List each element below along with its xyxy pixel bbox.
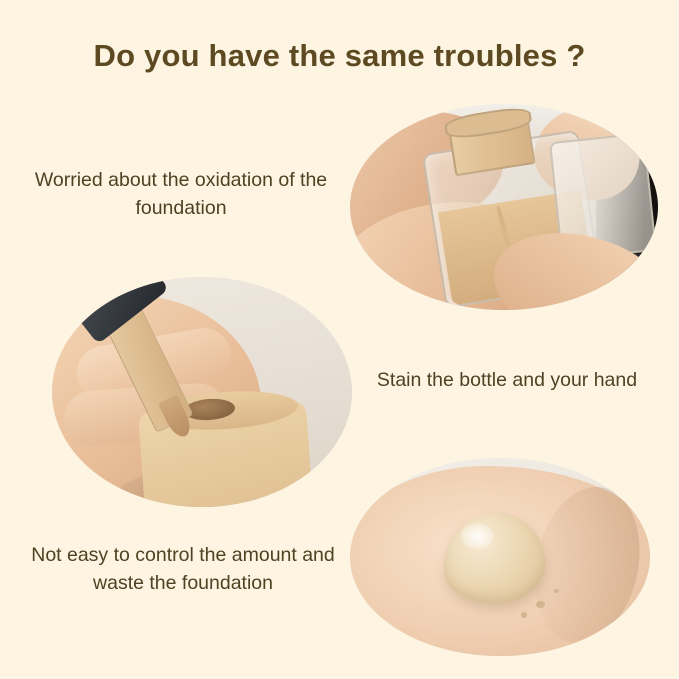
skin-swatch-photo-content: [350, 458, 650, 656]
page-title: Do you have the same troubles ?: [0, 38, 679, 74]
caption-control: Not easy to control the amount and waste…: [28, 542, 338, 597]
caption-oxidation: Worried about the oxidation of the found…: [12, 167, 350, 222]
skin-swatch-photo: [350, 458, 650, 656]
bottle-neck-photo-content: [350, 104, 658, 310]
highlight-gloss: [461, 523, 494, 549]
caption-stain: Stain the bottle and your hand: [352, 367, 662, 395]
dropper-photo: [52, 277, 352, 507]
dropper-photo-content: [52, 277, 352, 507]
foundation-speck: [521, 612, 527, 617]
foundation-speck: [554, 589, 559, 593]
bottle-neck-photo: [350, 104, 658, 310]
poster-canvas: Do you have the same troubles ? Worried …: [0, 0, 679, 679]
